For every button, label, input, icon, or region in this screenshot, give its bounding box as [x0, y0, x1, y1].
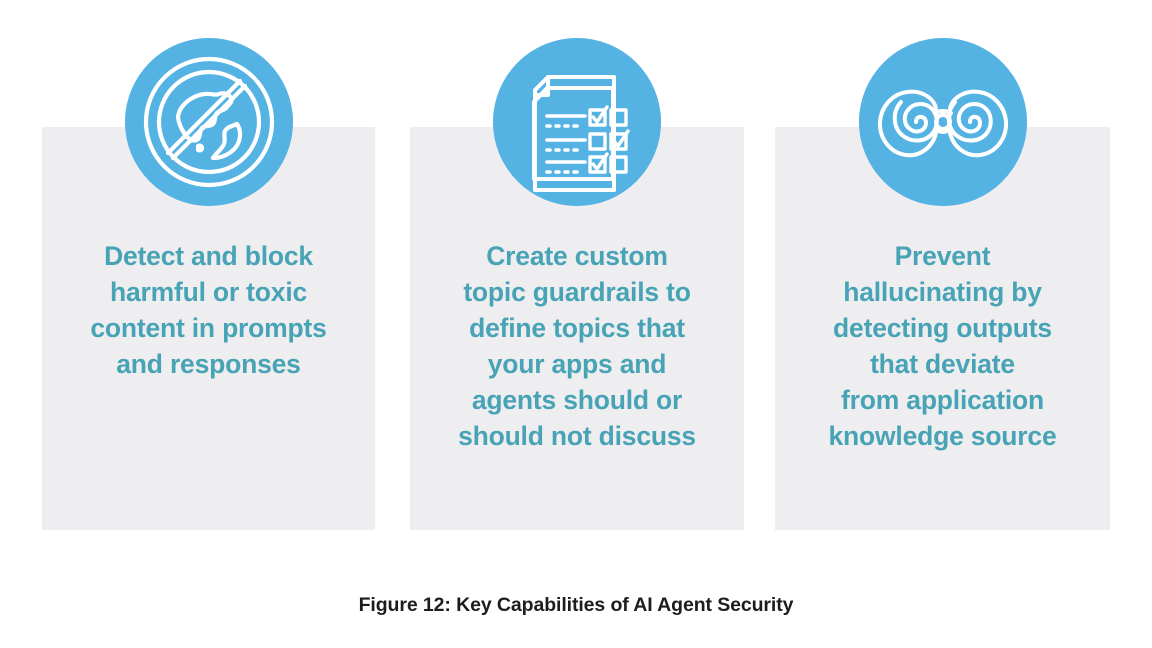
capability-text-3: Prevent hallucinating by detecting outpu… — [775, 238, 1110, 454]
capability-text-1-line-2: harmful or toxic — [42, 274, 375, 310]
capability-column-1: Detect and block harmful or toxic conten… — [42, 0, 375, 560]
capability-text-3-line-1: Prevent — [775, 238, 1110, 274]
capability-text-1-line-3: content in prompts — [42, 310, 375, 346]
capability-text-2-line-2: topic guardrails to — [410, 274, 744, 310]
capability-text-2-line-6: should not discuss — [410, 418, 744, 454]
capability-text-1-line-1: Detect and block — [42, 238, 375, 274]
figure-caption: Figure 12: Key Capabilities of AI Agent … — [0, 594, 1152, 617]
capability-text-3-line-6: knowledge source — [775, 418, 1110, 454]
capability-column-2: Create custom topic guardrails to define… — [410, 0, 744, 560]
capability-text-3-line-2: hallucinating by — [775, 274, 1110, 310]
capability-text-3-line-5: from application — [775, 382, 1110, 418]
capability-text-2-line-5: agents should or — [410, 382, 744, 418]
capability-text-2-line-3: define topics that — [410, 310, 744, 346]
capability-text-2-line-1: Create custom — [410, 238, 744, 274]
capability-text-2: Create custom topic guardrails to define… — [410, 238, 744, 454]
checklist-document-icon — [493, 38, 661, 206]
capability-text-3-line-3: detecting outputs — [775, 310, 1110, 346]
capability-column-3: Prevent hallucinating by detecting outpu… — [775, 0, 1110, 560]
capability-text-1-line-4: and responses — [42, 346, 375, 382]
capability-text-1: Detect and block harmful or toxic conten… — [42, 238, 375, 382]
figure-key-capabilities-ai-agent-security: Detect and block harmful or toxic conten… — [0, 0, 1152, 648]
capability-text-3-line-4: that deviate — [775, 346, 1110, 382]
no-harmful-content-icon — [125, 38, 293, 206]
hypnotic-goggles-icon — [859, 38, 1027, 206]
capability-text-2-line-4: your apps and — [410, 346, 744, 382]
